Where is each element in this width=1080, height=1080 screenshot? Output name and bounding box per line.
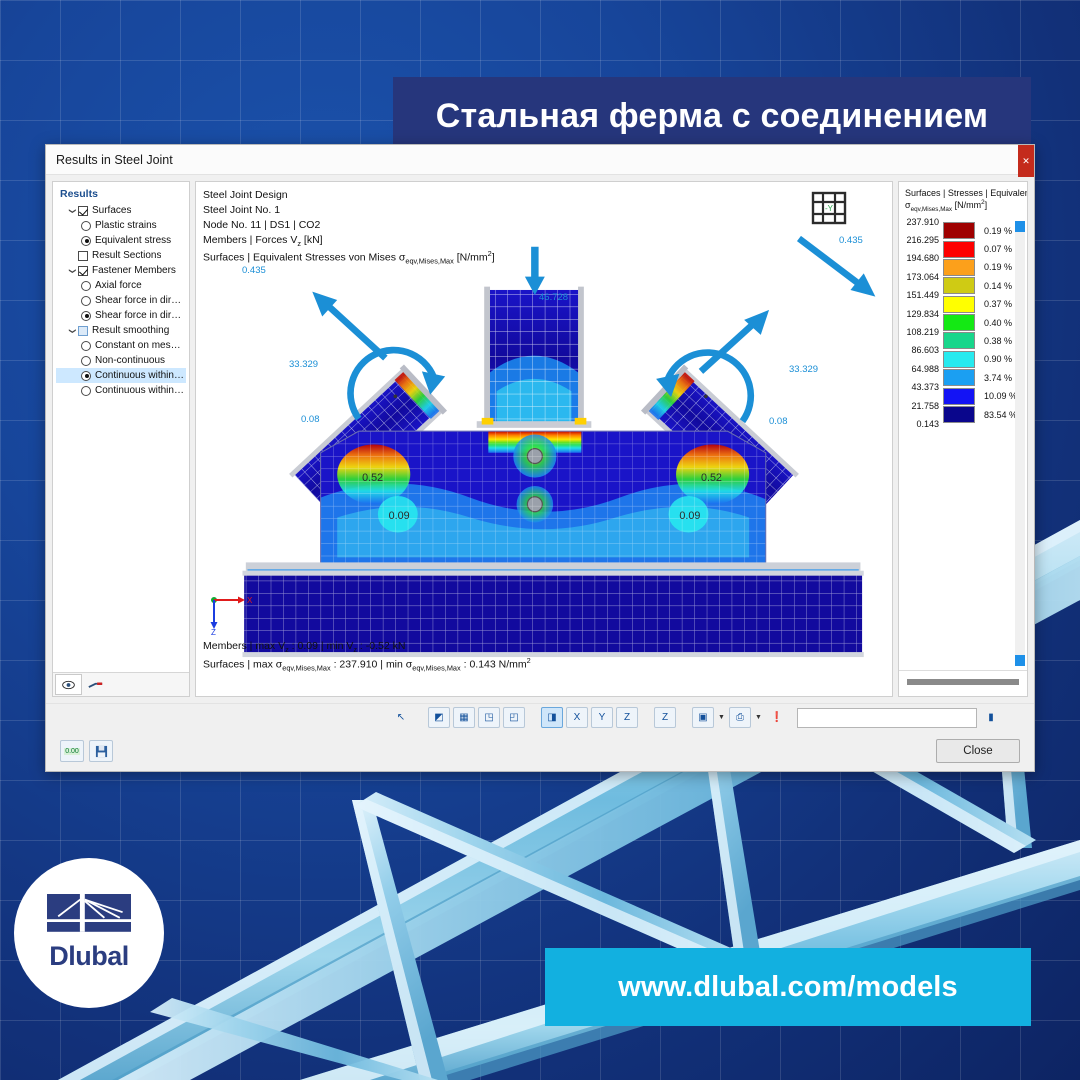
tree-item-label: Continuous within all... (95, 385, 186, 396)
tree-item-label: Surfaces (92, 205, 131, 216)
mesh-label-1: 0.09 (389, 510, 410, 522)
axis-label-x: X (247, 596, 252, 605)
legend-percent: 0.40 % (975, 318, 1012, 328)
gusset-plate (321, 431, 766, 564)
dlubal-bridge-icon (47, 894, 131, 937)
tree-footer-toolbar (53, 672, 189, 696)
legend-swatch (943, 296, 975, 313)
legend-row-last: 0.143 (901, 424, 1023, 442)
save-view-icon[interactable] (89, 740, 113, 762)
tree-item-label: Shear force in directi... (95, 310, 186, 321)
legend-value: 216.295 (901, 235, 943, 245)
iso-view-chevron-down-icon[interactable]: ▼ (717, 714, 726, 721)
print-chevron-down-icon[interactable]: ▼ (754, 714, 763, 721)
results-in-steel-joint-window: Results in Steel Joint ✕ Results ❯Surfac… (45, 144, 1035, 772)
mesh-label-3: 0.09 (679, 510, 700, 522)
tree-item-11[interactable]: ❯Continuous within su... (56, 368, 186, 383)
toolbar-input[interactable] (797, 708, 977, 728)
tree-item-label: Continuous within su... (95, 370, 186, 381)
chevron-down-icon[interactable]: ❯ (69, 265, 77, 276)
legend-value: 129.834 (901, 309, 943, 319)
checkbox-3[interactable] (78, 251, 88, 261)
legend-scrollbar[interactable] (1015, 221, 1025, 666)
tree-item-0[interactable]: ❯Surfaces (56, 203, 186, 218)
view-xz-icon[interactable]: Z (654, 707, 676, 728)
tree-item-label: Shear force in directi... (95, 295, 186, 306)
legend-scroll-thumb-top[interactable] (1015, 221, 1025, 232)
tree-item-7[interactable]: ❯Shear force in directi... (56, 308, 186, 323)
tree-item-8[interactable]: ❯Result smoothing (56, 323, 186, 338)
checkbox-4[interactable] (78, 266, 88, 276)
render-mode-icon[interactable]: ◩ (428, 707, 450, 728)
legend-percent: 10.09 % (975, 391, 1017, 401)
toolbar-separator (528, 707, 538, 728)
axis-label-z: Z (211, 628, 216, 636)
legend-value: 151.449 (901, 290, 943, 300)
annotation-value-008-right: 0.08 (769, 416, 788, 427)
tree-item-label: Plastic strains (95, 220, 157, 231)
tree-item-label: Non-continuous (95, 355, 165, 366)
print-icon[interactable]: ⎙ (729, 707, 751, 728)
alert-icon[interactable]: ❗ (766, 707, 788, 728)
legend-percent: 0.37 % (975, 299, 1012, 309)
title-banner-text: Стальная ферма с соединением (436, 97, 988, 136)
legend-footer-bar[interactable] (907, 679, 1019, 685)
chevron-down-icon[interactable]: ❯ (69, 205, 77, 216)
tree-item-label: Constant on mesh el... (95, 340, 186, 351)
legend-value: 108.219 (901, 327, 943, 337)
member-vertical (477, 287, 592, 428)
results-tree-panel: Results ❯Surfaces❯Plastic strains❯Equiva… (52, 181, 190, 697)
legend-swatch (943, 369, 975, 386)
legend-percent: 0.19 % (975, 262, 1012, 272)
transparent-view-icon[interactable]: ◨ (541, 707, 563, 728)
view-cube-label: -Y (825, 204, 834, 213)
tree-item-label: Axial force (95, 280, 142, 291)
annotation-value-46728: 46.728 (539, 292, 568, 303)
eye-icon[interactable] (55, 674, 82, 695)
arrow-left-axial (312, 292, 385, 358)
legend-footer (899, 670, 1027, 696)
url-banner-text: www.dlubal.com/models (618, 971, 957, 1004)
url-banner: www.dlubal.com/models (545, 948, 1031, 1026)
tree-item-label: Equivalent stress (95, 235, 171, 246)
window-footer: 0.00 Close (46, 731, 1034, 771)
tree-item-label: Result smoothing (92, 325, 169, 336)
legend-swatch (943, 222, 975, 239)
footer-line-surfaces: Surfaces | max σeqv,Mises,Max : 237.910 … (203, 656, 531, 674)
numeric-display-icon[interactable]: 0.00 (60, 740, 84, 762)
legend-value: 86.603 (901, 345, 943, 355)
tree-item-1[interactable]: ❯Plastic strains (56, 218, 186, 233)
view-cube-icon[interactable]: -Y (810, 190, 848, 226)
arrow-cursor-icon[interactable]: ↖ (390, 707, 412, 728)
tree-item-10[interactable]: ❯Non-continuous (56, 353, 186, 368)
checkbox-0[interactable] (78, 206, 88, 216)
legend-swatch (943, 314, 975, 331)
dlubal-logo-text: Dlubal (49, 941, 129, 972)
annotation-value-0435-left: 0.435 (242, 265, 266, 276)
window-body: Results ❯Surfaces❯Plastic strains❯Equiva… (46, 175, 1034, 703)
tree-header-results: Results (56, 186, 186, 203)
legend-value: 194.680 (901, 253, 943, 263)
legend-percent: 83.54 % (975, 410, 1017, 420)
tree-item-3[interactable]: ❯Result Sections (56, 248, 186, 263)
window-title: Results in Steel Joint (56, 153, 173, 167)
radio-7[interactable] (81, 311, 91, 321)
checkbox-8[interactable] (78, 326, 88, 336)
legend-percent: 3.74 % (975, 373, 1012, 383)
legend-value: 21.758 (901, 401, 943, 411)
viewport-footer-text: Members | max Vz : 0.09 | min Vz : -0.52… (203, 639, 531, 674)
radio-9[interactable] (81, 341, 91, 351)
radio-5[interactable] (81, 281, 91, 291)
mesh-label-2: 0.52 (701, 472, 722, 484)
fem-joint-model: 0.52 0.09 0.52 0.09 (196, 182, 892, 680)
tree-item-label: Result Sections (92, 250, 161, 261)
stress-legend-panel: Surfaces | Stresses | Equivalent St σeqv… (898, 181, 1028, 697)
results-tree: Results ❯Surfaces❯Plastic strains❯Equiva… (53, 182, 189, 672)
radio-1[interactable] (81, 221, 91, 231)
tree-item-2[interactable]: ❯Equivalent stress (56, 233, 186, 248)
tree-item-6[interactable]: ❯Shear force in directi... (56, 293, 186, 308)
radio-11[interactable] (81, 371, 91, 381)
footer-line-members: Members | max Vz : 0.09 | min Vz : -0.52… (203, 639, 531, 656)
tree-item-12[interactable]: ❯Continuous within all... (56, 383, 186, 398)
tree-item-9[interactable]: ❯Constant on mesh el... (56, 338, 186, 353)
radio-10[interactable] (81, 356, 91, 366)
legend-title: Surfaces | Stresses | Equivalent St σeqv… (899, 182, 1027, 217)
legend-value: 43.373 (901, 382, 943, 392)
annotation-value-008-left: 0.08 (301, 414, 320, 425)
legend-percent: 0.07 % (975, 244, 1012, 254)
legend-value: 173.064 (901, 272, 943, 282)
legend-settings-icon[interactable]: ▮ (980, 707, 1002, 728)
mesh-label-0: 0.52 (362, 472, 383, 484)
iso-view-icon[interactable]: ▣ (692, 707, 714, 728)
shading-icon[interactable]: ◳ (478, 707, 500, 728)
model-viewport[interactable]: Steel Joint Design Steel Joint No. 1 Nod… (195, 181, 893, 697)
legend-value: 64.988 (901, 364, 943, 374)
legend-scroll-thumb-bottom[interactable] (1015, 655, 1025, 666)
view-z-icon[interactable]: Z (616, 707, 638, 728)
dlubal-logo: Dlubal (14, 858, 164, 1008)
tree-item-label: Fastener Members (92, 265, 176, 276)
legend-value: 237.910 (901, 217, 943, 227)
legend-swatch (943, 332, 975, 349)
radio-12[interactable] (81, 386, 91, 396)
legend-percent: 0.38 % (975, 336, 1012, 346)
radio-2[interactable] (81, 236, 91, 246)
legend-swatch (943, 259, 975, 276)
close-icon[interactable]: ✕ (1018, 145, 1034, 177)
legend-swatch (943, 351, 975, 368)
annotation-value-33329-left: 33.329 (289, 359, 318, 370)
legend-swatch (943, 388, 975, 405)
tree-item-5[interactable]: ❯Axial force (56, 278, 186, 293)
view-y-icon[interactable]: Y (591, 707, 613, 728)
close-button[interactable]: Close (936, 739, 1020, 763)
tree-item-4[interactable]: ❯Fastener Members (56, 263, 186, 278)
legend-percent: 0.14 % (975, 281, 1012, 291)
legend-percent: 0.90 % (975, 354, 1012, 364)
legend-swatch (943, 406, 975, 423)
view-x-icon[interactable]: X (566, 707, 588, 728)
legend-scale: 237.9100.19 %216.2950.07 %194.6800.19 %1… (899, 217, 1027, 670)
legend-title-line1: Surfaces | Stresses | Equivalent St (905, 187, 1022, 199)
solid-view-icon[interactable]: ◰ (503, 707, 525, 728)
annotation-value-0435-cube: 0.435 (839, 235, 863, 246)
legend-swatch (943, 277, 975, 294)
toolbar-separator (641, 707, 651, 728)
section-line-icon[interactable] (82, 674, 109, 695)
window-titlebar: Results in Steel Joint ✕ (46, 145, 1034, 175)
chevron-down-icon[interactable]: ❯ (69, 325, 77, 336)
arrow-viewcube (799, 238, 875, 296)
legend-percent: 0.19 % (975, 226, 1012, 236)
legend-value: 0.143 (901, 419, 943, 429)
view-toolbar: ↖ ◩▦◳◰◨XYZZ ▣ ▼ ⎙ ▼ ❗ ▮ (46, 703, 1034, 731)
legend-title-line2: σeqv,Mises,Max [N/mm2] (905, 199, 1022, 214)
legend-swatch (943, 241, 975, 258)
annotation-value-33329-right: 33.329 (789, 364, 818, 375)
radio-6[interactable] (81, 296, 91, 306)
wireframe-icon[interactable]: ▦ (453, 707, 475, 728)
axis-indicator: X Z (208, 594, 252, 636)
arrow-vertical-load (525, 247, 545, 295)
